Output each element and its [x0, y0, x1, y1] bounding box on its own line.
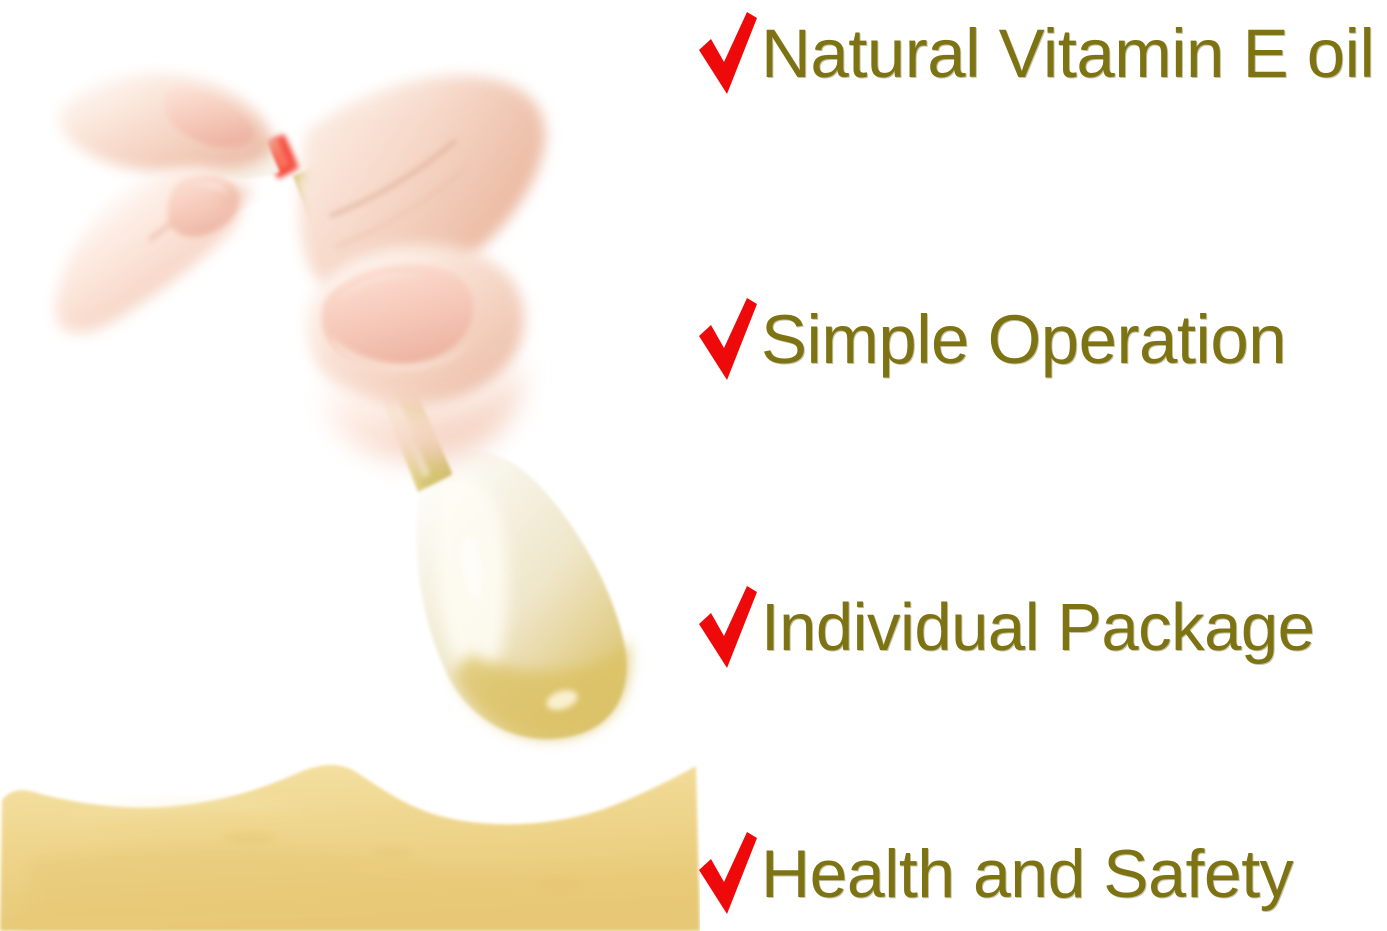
feature-item-health-and-safety: Health and Safety [697, 826, 1293, 922]
feature-label: Individual Package [761, 580, 1314, 676]
feature-item-individual-package: Individual Package [697, 580, 1314, 676]
feature-label: Health and Safety [761, 826, 1293, 922]
oil-smear-swatch [0, 765, 700, 931]
check-icon [697, 826, 759, 922]
capsule-teardrop-bulb [416, 449, 630, 739]
check-icon [697, 580, 759, 676]
right-hand-thumb-and-finger [299, 76, 545, 462]
feature-label: Natural Vitamin E oil [761, 6, 1374, 102]
feature-list: Natural Vitamin E oil Simple Operation I… [697, 0, 1387, 931]
feature-item-natural-vitamin-e-oil: Natural Vitamin E oil [697, 6, 1374, 102]
check-icon [697, 292, 759, 388]
feature-item-simple-operation: Simple Operation [697, 292, 1286, 388]
product-illustration [0, 0, 700, 931]
left-hand-fingers [55, 73, 272, 333]
product-infographic: Natural Vitamin E oil Simple Operation I… [0, 0, 1387, 931]
feature-label: Simple Operation [761, 292, 1286, 388]
check-icon [697, 6, 759, 102]
